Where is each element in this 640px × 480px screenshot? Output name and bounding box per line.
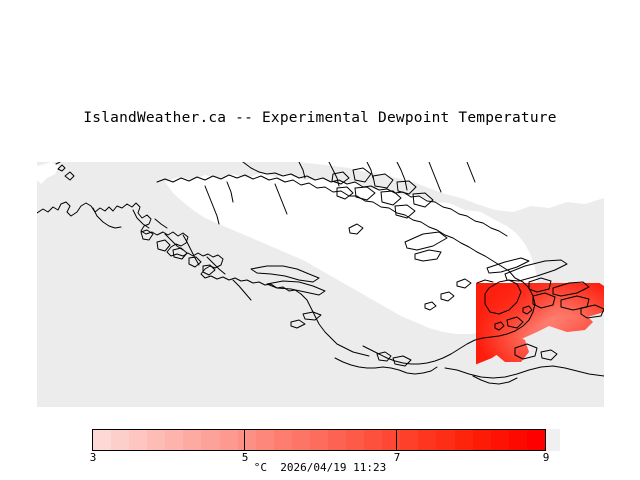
colorbar-tick-7 <box>396 429 397 451</box>
colorbar-segment-4 <box>165 430 183 450</box>
colorbar-segment-12 <box>310 430 328 450</box>
colorbar-segment-20 <box>455 430 473 450</box>
colorbar-segment-21 <box>473 430 491 450</box>
colorbar-segment-6 <box>201 430 219 450</box>
colorbar-segment-2 <box>129 430 147 450</box>
colorbar-overflow-swatch <box>546 429 560 451</box>
colorbar-segment-10 <box>274 430 292 450</box>
colorbar-tick-5 <box>244 429 245 451</box>
colorbar-segment-23 <box>509 430 527 450</box>
colorbar-segment-16 <box>382 430 400 450</box>
colorbar-segment-5 <box>183 430 201 450</box>
colorbar-segment-13 <box>328 430 346 450</box>
colorbar-footer-timestamp: °C 2026/04/19 11:23 <box>0 461 640 474</box>
map-panel[interactable] <box>37 162 604 407</box>
colorbar-segment-15 <box>364 430 382 450</box>
colorbar-segment-19 <box>436 430 454 450</box>
colorbar-segment-0 <box>93 430 111 450</box>
colorbar-segment-22 <box>491 430 509 450</box>
colorbar-segment-7 <box>220 430 238 450</box>
colorbar-segment-14 <box>346 430 364 450</box>
colorbar-segment-11 <box>292 430 310 450</box>
map-svg <box>37 162 604 407</box>
colorbar-segment-8 <box>238 430 256 450</box>
colorbar[interactable] <box>92 429 546 451</box>
page-title: IslandWeather.ca -- Experimental Dewpoin… <box>0 110 640 126</box>
colorbar-segment-18 <box>418 430 436 450</box>
colorbar-segment-17 <box>400 430 418 450</box>
colorbar-segment-3 <box>147 430 165 450</box>
weather-map-page: IslandWeather.ca -- Experimental Dewpoin… <box>0 0 640 480</box>
colorbar-segment-24 <box>527 430 545 450</box>
colorbar-segment-1 <box>111 430 129 450</box>
colorbar-segment-9 <box>256 430 274 450</box>
colorbar-gradient[interactable] <box>92 429 546 451</box>
